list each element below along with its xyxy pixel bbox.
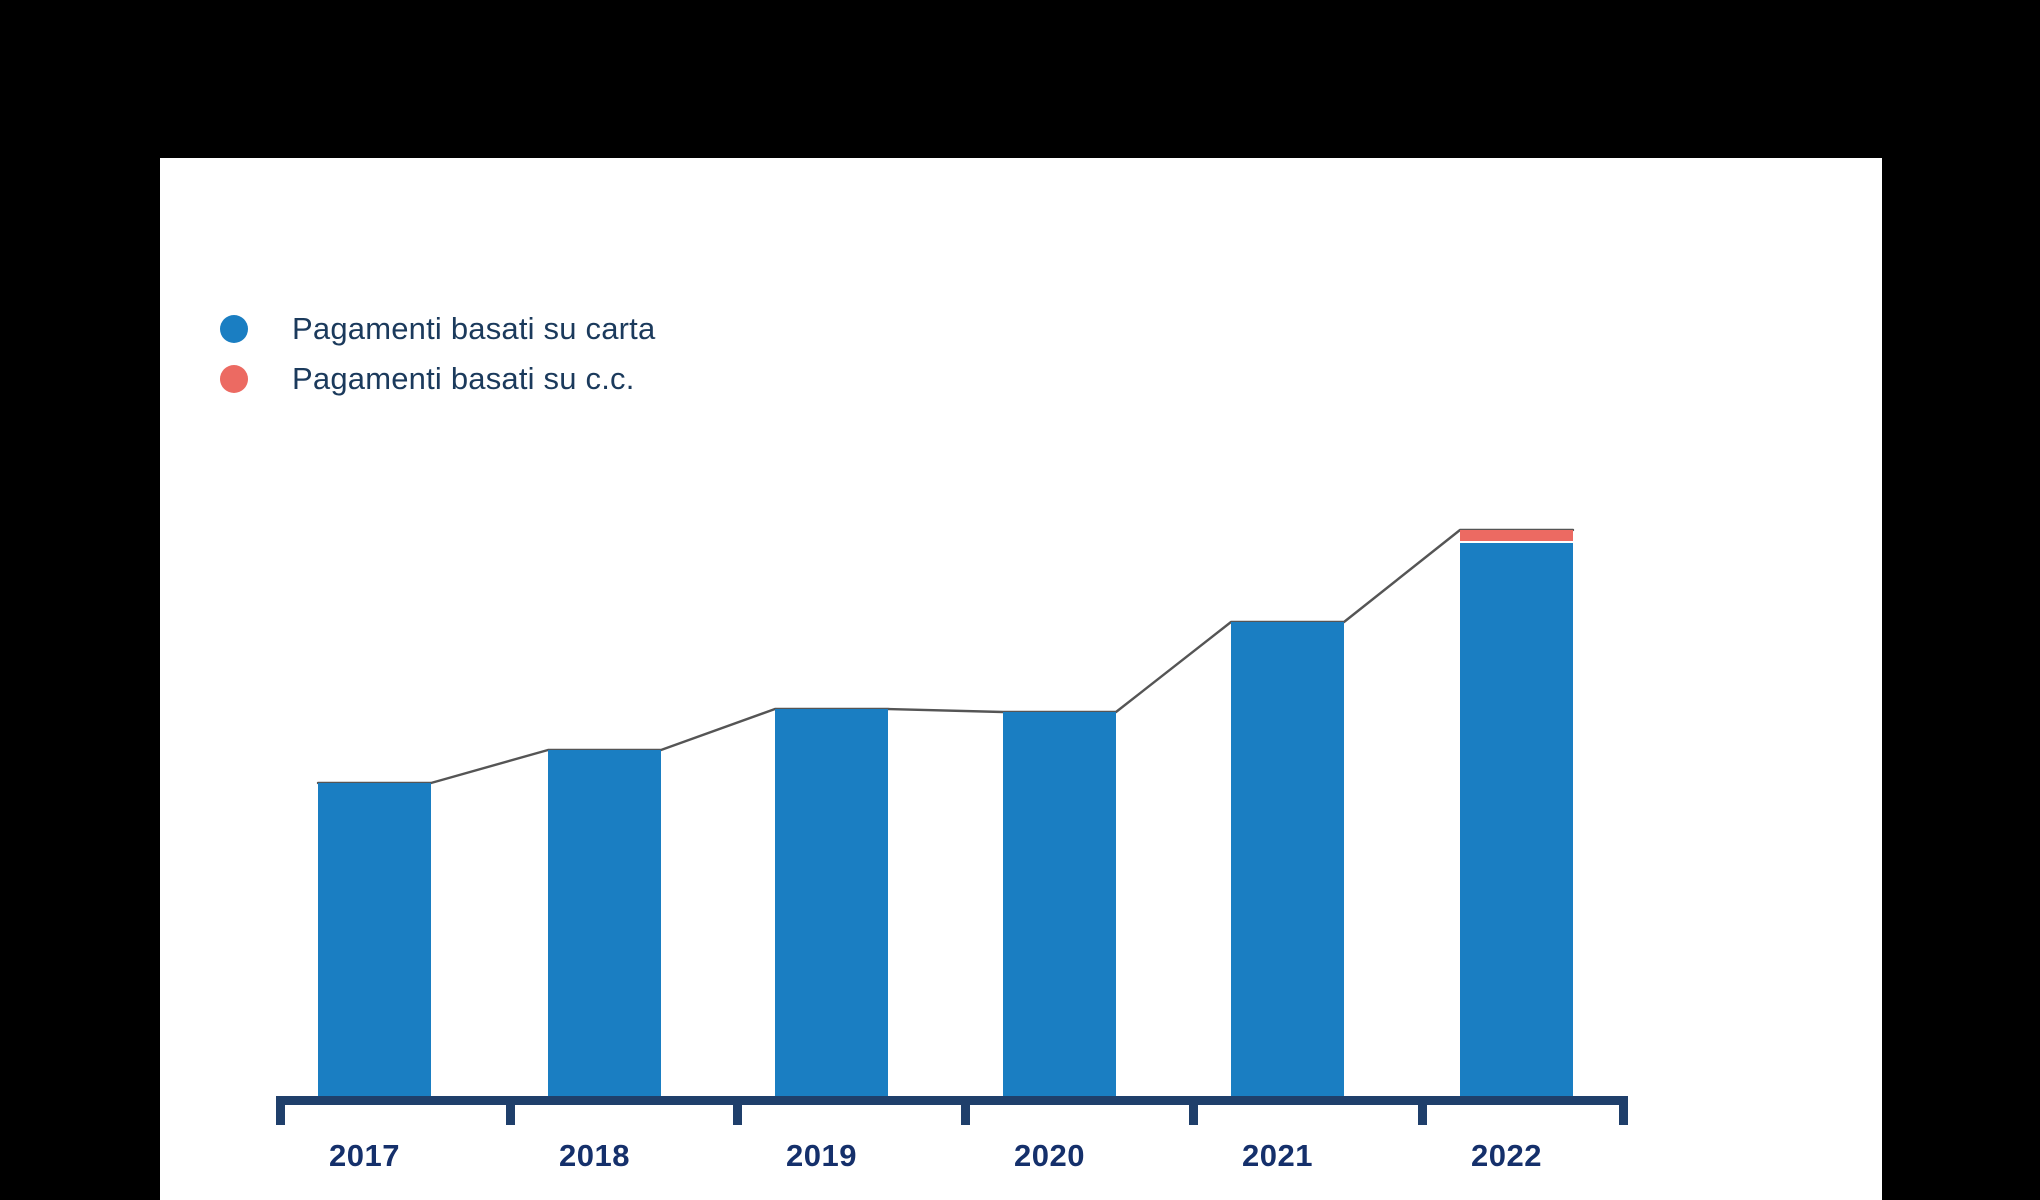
bar-cap-2022[interactable] (1460, 530, 1573, 541)
bar-2019[interactable] (775, 709, 888, 1096)
bar-2022[interactable] (1460, 543, 1573, 1096)
bar-2018[interactable] (548, 750, 661, 1096)
tick-2017 (276, 1105, 285, 1125)
tick-2019 (733, 1105, 742, 1125)
bar-2021[interactable] (1231, 622, 1344, 1096)
x-axis-label-2021: 2021 (1242, 1138, 1313, 1174)
screenshot-root: Pagamenti basati su carta Pagamenti basa… (0, 0, 2040, 1200)
bar-2020[interactable] (1003, 712, 1116, 1096)
tick-2021 (1189, 1105, 1198, 1125)
x-axis-end-cap (1619, 1105, 1628, 1125)
chart-card: Pagamenti basati su carta Pagamenti basa… (160, 158, 1882, 1200)
plot-area: 201720182019202020212022 (200, 218, 1840, 1158)
tick-2018 (506, 1105, 515, 1125)
tick-2020 (961, 1105, 970, 1125)
x-axis-label-2018: 2018 (559, 1138, 630, 1174)
tick-2022 (1418, 1105, 1427, 1125)
x-axis-label-2022: 2022 (1471, 1138, 1542, 1174)
x-axis-label-2019: 2019 (786, 1138, 857, 1174)
x-axis-label-2017: 2017 (329, 1138, 400, 1174)
bar-2017[interactable] (318, 783, 431, 1096)
x-axis-line (276, 1096, 1628, 1105)
x-axis-label-2020: 2020 (1014, 1138, 1085, 1174)
